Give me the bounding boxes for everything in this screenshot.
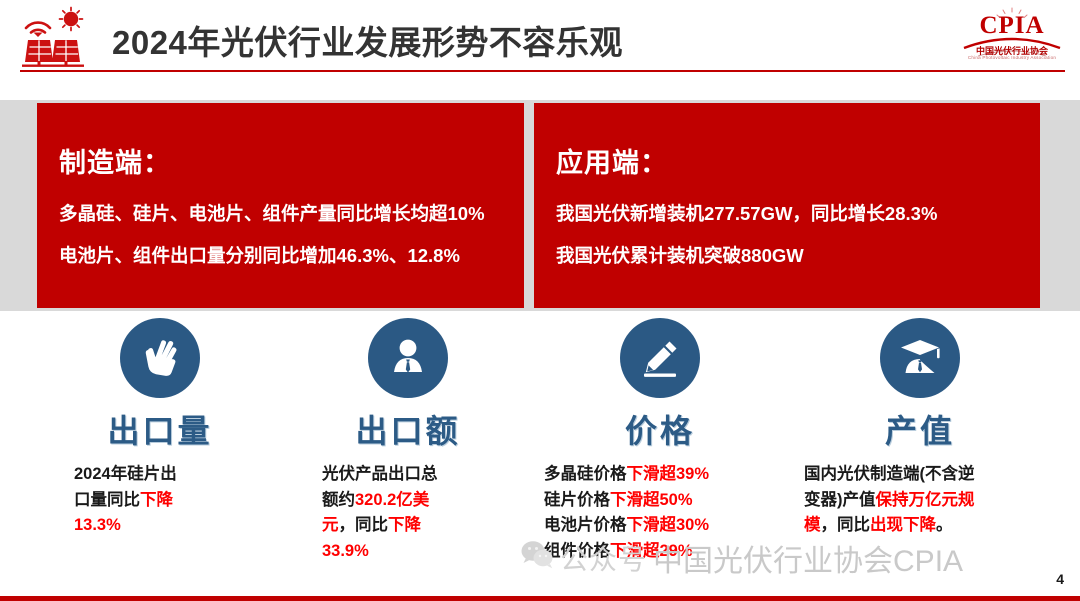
metric-column-export-volume: 出口量 2024年硅片出口量同比下降13.3%	[62, 318, 258, 539]
metric-body-export-volume: 2024年硅片出口量同比下降13.3%	[62, 462, 258, 539]
metric-body-line: 电池片价格下滑超30%	[544, 513, 780, 539]
slide: 2024年光伏行业发展形势不容乐观 CPIA 中国光伏行业协会 China Ph…	[0, 0, 1080, 601]
panel-manufacturing: 制造端： 多晶硅、硅片、电池片、组件产量同比增长均超10% 电池片、组件出口量分…	[37, 103, 524, 308]
businessperson-icon	[368, 318, 448, 398]
metric-body-line: 元，同比下降	[322, 513, 506, 539]
metric-body-line: 13.3%	[74, 513, 258, 539]
metric-body-line: 组件价格下滑超29%	[544, 539, 780, 565]
solar-panel-wifi-sun-icon	[14, 6, 92, 68]
metric-columns: 出口量 2024年硅片出口量同比下降13.3% 出口额 光伏产品出口总额约320…	[0, 318, 1080, 583]
slide-header: 2024年光伏行业发展形势不容乐观 CPIA 中国光伏行业协会 China Ph…	[0, 0, 1080, 78]
clapping-hands-icon	[120, 318, 200, 398]
header-divider	[20, 70, 1065, 72]
pencil-icon	[620, 318, 700, 398]
panel-application-line-2: 我国光伏累计装机突破880GW	[556, 244, 1024, 267]
page-number: 4	[1056, 571, 1064, 587]
panel-manufacturing-heading: 制造端：	[59, 141, 508, 180]
metric-column-output-value: 产值 国内光伏制造端(不含逆变器)产值保持万亿元规模，同比出现下降。	[800, 318, 1040, 539]
cpia-wordmark: CPIA	[958, 12, 1066, 40]
panel-manufacturing-line-2: 电池片、组件出口量分别同比增加46.3%、12.8%	[59, 244, 508, 267]
page-title: 2024年光伏行业发展形势不容乐观	[112, 16, 623, 64]
metric-body-line: 口量同比下降	[74, 488, 258, 514]
metric-column-export-value: 出口额 光伏产品出口总额约320.2亿美元，同比下降33.9%	[310, 318, 506, 564]
metric-body-line: 2024年硅片出	[74, 462, 258, 488]
metric-body-line: 变器)产值保持万亿元规	[804, 488, 1040, 514]
graduate-icon	[880, 318, 960, 398]
metric-body-export-value: 光伏产品出口总额约320.2亿美元，同比下降33.9%	[310, 462, 506, 564]
metric-heading-output-value: 产值	[800, 406, 1040, 452]
panel-application: 应用端： 我国光伏新增装机277.57GW，同比增长28.3% 我国光伏累计装机…	[534, 103, 1040, 308]
cpia-english-name: China Photovoltaic Industry Association	[958, 55, 1066, 60]
metric-body-output-value: 国内光伏制造端(不含逆变器)产值保持万亿元规模，同比出现下降。	[800, 462, 1040, 539]
footer-bar	[0, 596, 1080, 601]
metric-body-price: 多晶硅价格下滑超39%硅片价格下滑超50%电池片价格下滑超30%组件价格下滑超2…	[540, 462, 780, 564]
metric-body-line: 国内光伏制造端(不含逆	[804, 462, 1040, 488]
metric-body-line: 硅片价格下滑超50%	[544, 488, 780, 514]
metric-heading-price: 价格	[540, 406, 780, 452]
metric-body-line: 33.9%	[322, 539, 506, 565]
metric-body-line: 额约320.2亿美	[322, 488, 506, 514]
metric-heading-export-volume: 出口量	[62, 406, 258, 452]
panel-application-line-1: 我国光伏新增装机277.57GW，同比增长28.3%	[556, 202, 1024, 225]
metric-heading-export-value: 出口额	[310, 406, 506, 452]
panel-manufacturing-line-1: 多晶硅、硅片、电池片、组件产量同比增长均超10%	[59, 202, 508, 225]
cpia-logo: CPIA 中国光伏行业协会 China Photovoltaic Industr…	[958, 4, 1066, 66]
metric-body-line: 多晶硅价格下滑超39%	[544, 462, 780, 488]
metric-body-line: 光伏产品出口总	[322, 462, 506, 488]
panel-application-heading: 应用端：	[556, 141, 1024, 180]
metric-column-price: 价格 多晶硅价格下滑超39%硅片价格下滑超50%电池片价格下滑超30%组件价格下…	[540, 318, 780, 564]
metric-body-line: 模，同比出现下降。	[804, 513, 1040, 539]
